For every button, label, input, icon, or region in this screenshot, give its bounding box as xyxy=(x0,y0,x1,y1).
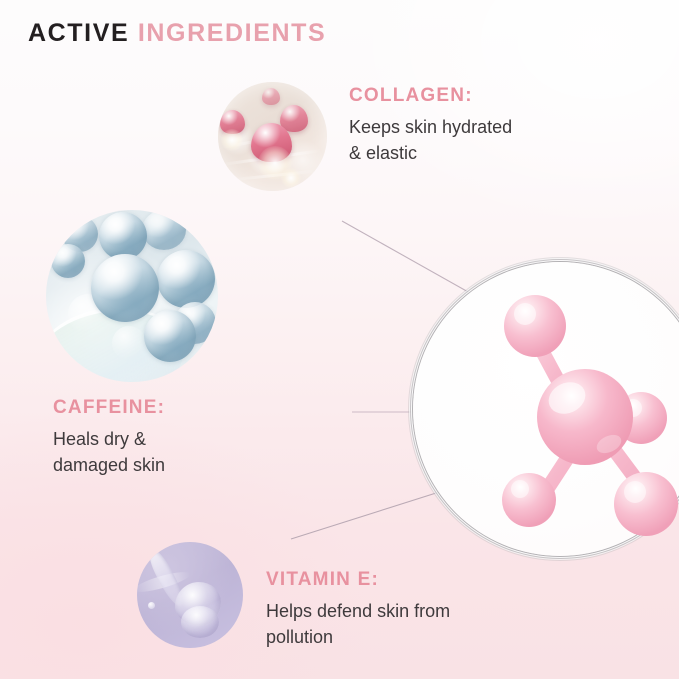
bubble-icon xyxy=(157,250,215,308)
collagen-dome-icon xyxy=(262,88,280,105)
ingredient-block-collagen: COLLAGEN: Keeps skin hydrated & elastic xyxy=(349,86,512,166)
bokeh-light-icon xyxy=(281,168,301,188)
connector-line-vitamin-e xyxy=(291,487,455,539)
page-title-active: ACTIVE xyxy=(28,19,129,47)
vitamin-e-thumbnail xyxy=(137,542,243,648)
collagen-thumbnail xyxy=(218,82,327,191)
bokeh-light-icon xyxy=(221,129,243,151)
ingredient-desc-vitamin-e-line-2: pollution xyxy=(266,624,450,650)
bubble-icon xyxy=(144,310,196,362)
ingredient-desc-caffeine-line-1: Heals dry & xyxy=(53,426,165,452)
caffeine-thumbnail xyxy=(46,210,218,382)
ingredient-block-caffeine: CAFFEINE: Heals dry & damaged skin xyxy=(53,398,165,478)
ingredient-name-caffeine: CAFFEINE: xyxy=(53,398,165,419)
page-title: ACTIVE INGREDIENTS xyxy=(28,21,326,46)
serum-bead-icon xyxy=(148,602,155,609)
ingredient-block-vitamin-e: VITAMIN E: Helps defend skin from pollut… xyxy=(266,570,450,650)
ingredient-desc-collagen-line-2: & elastic xyxy=(349,140,512,166)
ingredient-desc-vitamin-e-line-1: Helps defend skin from xyxy=(266,598,450,624)
bubble-icon xyxy=(51,244,85,278)
bubble-icon xyxy=(91,254,159,322)
ingredient-name-vitamin-e: VITAMIN E: xyxy=(266,570,450,591)
ingredient-desc-collagen-line-1: Keeps skin hydrated xyxy=(349,114,512,140)
page-title-ingredients: INGREDIENTS xyxy=(138,19,326,47)
serum-drop-icon xyxy=(181,606,219,638)
hero-molecule-circle xyxy=(413,262,679,556)
connector-line-collagen xyxy=(342,221,470,293)
bubble-icon xyxy=(112,326,146,360)
ingredient-desc-caffeine-line-2: damaged skin xyxy=(53,452,165,478)
bubble-icon xyxy=(142,210,186,250)
ingredient-name-collagen: COLLAGEN: xyxy=(349,86,512,107)
active-ingredients-infographic: ACTIVE INGREDIENTS xyxy=(0,0,679,679)
bubble-icon xyxy=(99,212,147,260)
